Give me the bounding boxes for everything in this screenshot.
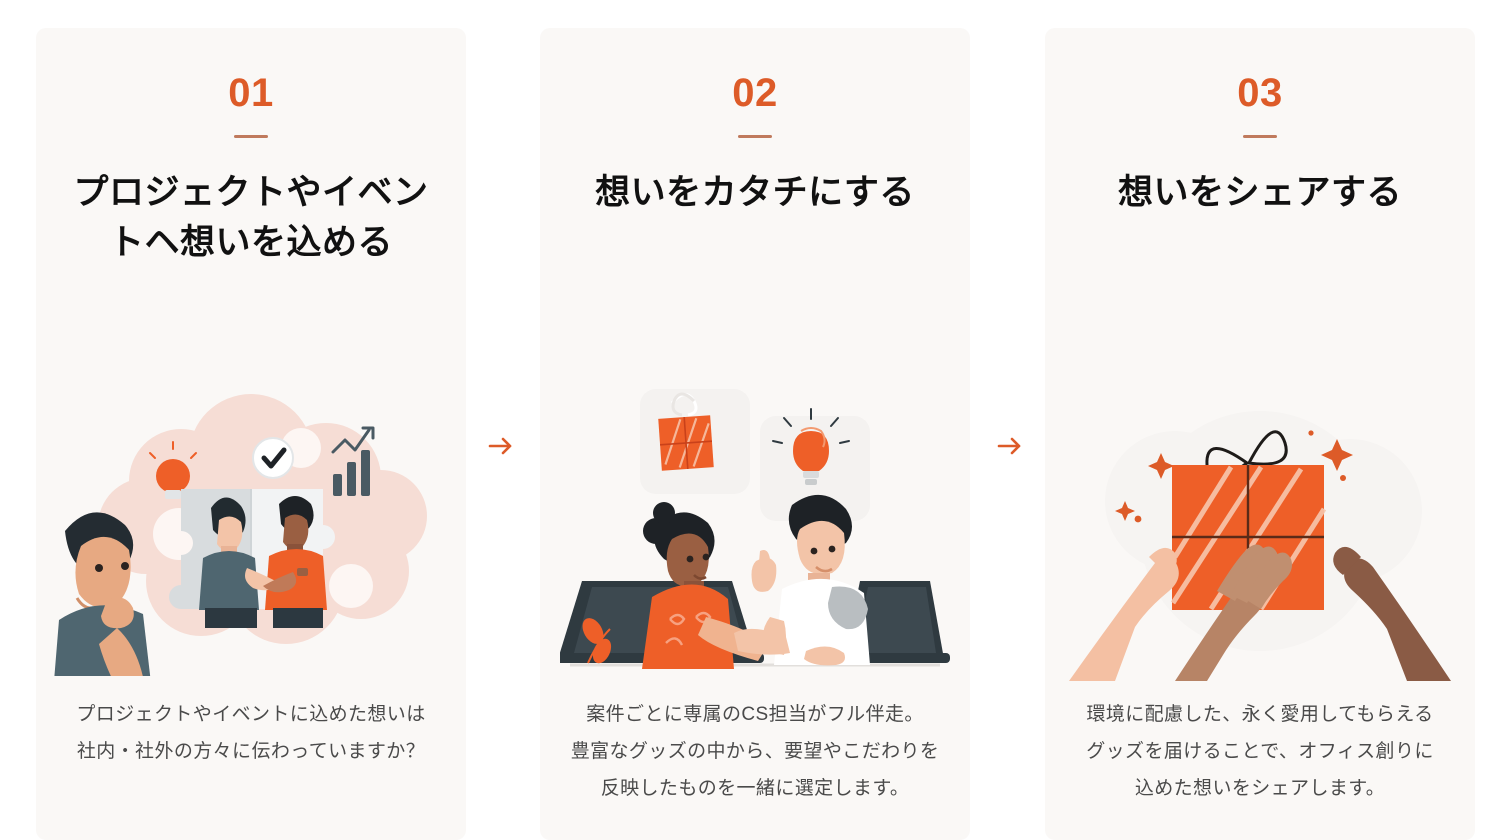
- illustration-hands-holding-gift: [1045, 373, 1475, 688]
- step-number-03: 03: [1237, 73, 1283, 113]
- step-number-02: 02: [732, 73, 778, 113]
- step-body-02-line3: 反映したものを一緒に選定します。: [560, 770, 950, 807]
- step-heading-03-line1: 想いをシェアする: [1069, 168, 1451, 218]
- step-body-03-line3: 込めた想いをシェアします。: [1065, 770, 1455, 807]
- step-number-01: 01: [228, 73, 274, 113]
- step-divider-02: [738, 135, 772, 138]
- step-heading-01-line2: トヘ想いを込める: [60, 218, 442, 268]
- step-body-02: 案件ごとに専属のCS担当がフル伴走。 豊富なグッズの中から、要望やこだわりを 反…: [560, 696, 950, 807]
- check-badge-icon: [253, 438, 293, 478]
- step-body-02-line1: 案件ごとに専属のCS担当がフル伴走。: [560, 696, 950, 733]
- step-body-03-line2: グッズを届けることで、オフィス創りに: [1065, 733, 1455, 770]
- step-body-01: プロジェクトやイベントに込めた想いは 社内・社外の方々に伝わっていますか？: [56, 696, 446, 770]
- step-body-01-line1: プロジェクトやイベントに込めた想いは: [56, 696, 446, 733]
- step-heading-03: 想いをシェアする: [1069, 168, 1451, 218]
- step-body-03: 環境に配慮した、永く愛用してもらえる グッズを届けることで、オフィス創りに 込め…: [1065, 696, 1455, 807]
- step-heading-01: プロジェクトやイベン トヘ想いを込める: [60, 168, 442, 267]
- person-man: [734, 494, 870, 664]
- step-heading-02-line1: 想いをカタチにする: [564, 168, 946, 218]
- step-body-03-line1: 環境に配慮した、永く愛用してもらえる: [1065, 696, 1455, 733]
- illustration-team-at-laptops: [540, 373, 970, 688]
- step-heading-01-line1: プロジェクトやイベン: [60, 168, 442, 218]
- step-heading-02: 想いをカタチにする: [564, 168, 946, 218]
- step-body-01-line2: 社内・社外の方々に伝わっていますか？: [56, 733, 446, 770]
- step-card-02: 02 想いをカタチにする: [540, 28, 970, 840]
- steps-board: 01 プロジェクトやイベン トヘ想いを込める: [0, 0, 1500, 840]
- illustration-thinking-person: [36, 373, 466, 688]
- step-divider-01: [234, 135, 268, 138]
- step-divider-03: [1243, 135, 1277, 138]
- hand-left-light: [1069, 547, 1179, 680]
- step-body-02-line2: 豊富なグッズの中から、要望やこだわりを: [560, 733, 950, 770]
- arrow-step1-to-step2: [478, 424, 522, 468]
- arrow-step2-to-step3: [987, 424, 1031, 468]
- step-card-01: 01 プロジェクトやイベン トヘ想いを込める: [36, 28, 466, 840]
- step-card-03: 03 想いをシェアする: [1045, 28, 1475, 840]
